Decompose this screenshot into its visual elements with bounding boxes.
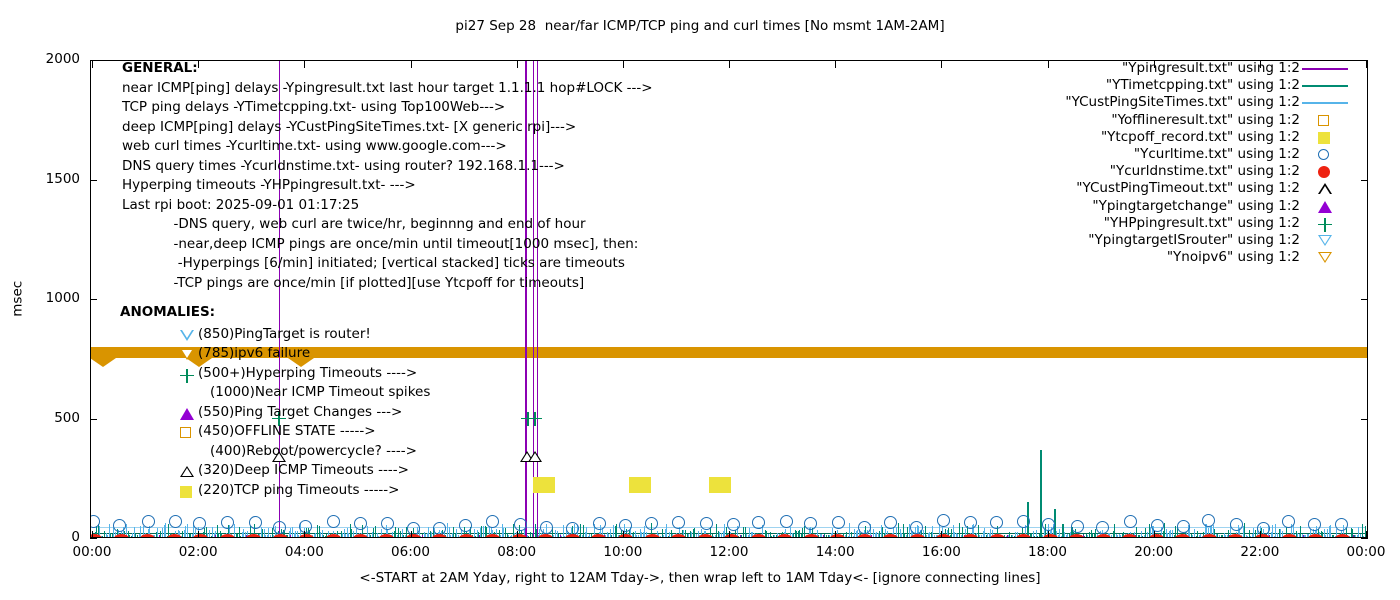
anomaly-label: (400)Reboot/powercycle? ----> [210,443,417,459]
x-tick-label: 06:00 [376,546,446,560]
legend-entry: "Ypingresult.txt" using 1:2 [1000,60,1300,77]
y-tick-mark [90,419,97,420]
x-tick-mark [411,531,412,538]
x-tick-label: 14:00 [800,546,870,560]
anomaly-label: (550)Ping Target Changes ---> [198,404,402,420]
legend-sample [1302,129,1350,146]
square-filled-icon [180,486,192,498]
triangle-down-orange-icon [1318,252,1332,263]
x-tick-label: 22:00 [1225,546,1295,560]
x-tick-label: 12:00 [694,546,764,560]
square-open-icon [180,427,191,438]
legend-sample [1302,77,1350,94]
anomaly-label: (1000)Near ICMP Timeout spikes [210,384,430,400]
anomaly-label: (320)Deep ICMP Timeouts ----> [198,462,409,478]
plus-icon [180,369,194,383]
x-tick-mark [941,531,942,538]
anomaly-row: (550)Ping Target Changes ---> [120,404,215,424]
general-annotation-block: GENERAL:near ICMP[ping] delays -Ypingres… [122,62,653,296]
legend-sample [1302,60,1350,77]
x-tick-mark [835,61,836,68]
x-axis-caption: <-START at 2AM Yday, right to 12AM Tday-… [0,572,1400,586]
triangle-down-open-icon [1318,235,1332,246]
x-tick-mark [623,531,624,538]
x-tick-mark [1366,61,1367,68]
triangle-open-icon [1318,183,1332,194]
legend-label: "Ytcpoff_record.txt" using 1:2 [1101,129,1300,145]
legend-line-swatch [1302,68,1348,70]
anomaly-row: (1000)Near ICMP Timeout spikes [120,384,215,404]
legend-entry: "YpingtargetISrouter" using 1:2 [1000,232,1300,249]
x-tick-mark [92,61,93,68]
x-tick-label: 04:00 [269,546,339,560]
legend-sample [1302,180,1350,197]
legend-sample [1302,198,1350,215]
legend-entry: "YHPpingresult.txt" using 1:2 [1000,215,1300,232]
x-tick-label: 18:00 [1013,546,1083,560]
anomalies-annotation-block: ANOMALIES:(850)PingTarget is router!(785… [120,306,215,501]
x-tick-label: 16:00 [906,546,976,560]
legend-entry: "Ycurltime.txt" using 1:2 [1000,146,1300,163]
legend-label: "Yofflineresult.txt" using 1:2 [1111,112,1300,128]
y-tick-mark [1361,419,1368,420]
anomalies-heading: ANOMALIES: [120,306,215,326]
legend-entry: "Ytcpoff_record.txt" using 1:2 [1000,129,1300,146]
anomaly-label: (500+)Hyperping Timeouts ----> [198,365,417,381]
legend-sample [1302,146,1350,163]
x-tick-mark [1260,531,1261,538]
y-tick-label: 1000 [34,292,80,306]
x-tick-mark [941,61,942,68]
legend-label: "Ypingresult.txt" using 1:2 [1122,60,1300,76]
anomaly-row: (850)PingTarget is router! [120,326,215,346]
legend-entry: "YCustPingTimeout.txt" using 1:2 [1000,180,1300,197]
x-tick-label: 00:00 [1331,546,1400,560]
anomaly-label: (220)TCP ping Timeouts -----> [198,482,400,498]
general-line: web curl times -Ycurltime.txt- using www… [122,140,653,160]
y-tick-mark [1361,180,1368,181]
circle-open-icon [1318,149,1329,160]
legend-label: "YCustPingSiteTimes.txt" using 1:2 [1065,94,1300,110]
legend-entry: "Ynoipv6" using 1:2 [1000,249,1300,266]
anomaly-row: (785)ipv6 failure [120,345,215,365]
triangle-down-open-icon [180,330,194,341]
circle-filled-icon [1318,166,1330,178]
y-tick-mark [90,299,97,300]
x-tick-mark [1366,531,1367,538]
x-tick-mark [1154,531,1155,538]
triangle-filled-icon [1318,201,1332,213]
general-line: -Hyperpings [6/min] initiated; [vertical… [122,257,653,277]
x-tick-label: 20:00 [1119,546,1189,560]
chart-title: pi27 Sep 28 near/far ICMP/TCP ping and c… [0,20,1400,34]
plus-icon [1318,218,1332,232]
anomaly-row: (500+)Hyperping Timeouts ----> [120,365,215,385]
legend-entry: "YTimetcpping.txt" using 1:2 [1000,77,1300,94]
triangle-open-icon [180,466,194,477]
x-tick-mark [517,531,518,538]
square-filled-icon [1318,132,1330,144]
y-tick-mark [90,538,97,539]
x-tick-mark [1048,531,1049,538]
legend-entry: "Ycurldnstime.txt" using 1:2 [1000,163,1300,180]
y-tick-label: 2000 [34,53,80,67]
y-tick-mark [1361,538,1368,539]
legend-label: "Ynoipv6" using 1:2 [1167,249,1300,265]
legend-label: "Ycurltime.txt" using 1:2 [1134,146,1300,162]
legend-line-swatch [1302,85,1348,87]
square-open-icon [1318,115,1329,126]
legend-label: "Ycurldnstime.txt" using 1:2 [1110,163,1300,179]
anomaly-row: (320)Deep ICMP Timeouts ----> [120,462,215,482]
legend-label: "YCustPingTimeout.txt" using 1:2 [1076,180,1300,196]
x-tick-label: 02:00 [163,546,233,560]
general-heading: GENERAL: [122,62,653,82]
x-tick-label: 10:00 [588,546,658,560]
general-line: TCP ping delays -YTimetcpping.txt- using… [122,101,653,121]
anomaly-label: (785)ipv6 failure [198,345,310,361]
legend-sample [1302,249,1350,266]
x-tick-mark [729,61,730,68]
x-tick-mark [835,531,836,538]
y-tick-label: 0 [34,531,80,545]
legend-line-swatch [1302,102,1348,104]
y-tick-label: 1500 [34,173,80,187]
legend-sample [1302,94,1350,111]
general-line: -TCP pings are once/min [if plotted][use… [122,277,653,297]
x-tick-mark [92,531,93,538]
legend-label: "YTimetcpping.txt" using 1:2 [1106,77,1300,93]
y-tick-label: 500 [34,412,80,426]
legend-entry: "Yofflineresult.txt" using 1:2 [1000,112,1300,129]
anomaly-label: (450)OFFLINE STATE -----> [198,423,376,439]
general-line: -DNS query, web curl are twice/hr, begin… [122,218,653,238]
y-tick-mark [90,180,97,181]
y-axis-label: msec [11,269,25,329]
x-tick-mark [729,531,730,538]
x-tick-label: 08:00 [482,546,552,560]
y-tick-mark [1361,299,1368,300]
anomaly-label: (850)PingTarget is router! [198,326,371,342]
chart-page: pi27 Sep 28 near/far ICMP/TCP ping and c… [0,0,1400,600]
legend-sample [1302,232,1350,249]
x-tick-mark [304,531,305,538]
legend-entry: "YCustPingSiteTimes.txt" using 1:2 [1000,94,1300,111]
legend-entry: "Ypingtargetchange" using 1:2 [1000,198,1300,215]
legend-label: "YpingtargetISrouter" using 1:2 [1088,232,1300,248]
triangle-down-orange-icon [180,349,194,360]
x-tick-mark [198,531,199,538]
legend-sample [1302,112,1350,129]
triangle-filled-icon [180,408,194,420]
legend-label: "YHPpingresult.txt" using 1:2 [1104,215,1300,231]
legend-sample [1302,215,1350,232]
general-line: Hyperping timeouts -YHPpingresult.txt- -… [122,179,653,199]
legend-label: "Ypingtargetchange" using 1:2 [1092,198,1300,214]
anomaly-row: (400)Reboot/powercycle? ----> [120,443,215,463]
anomaly-row: (220)TCP ping Timeouts -----> [120,482,215,502]
x-tick-label: 00:00 [57,546,127,560]
chart-legend: "Ypingresult.txt" using 1:2"YTimetcpping… [1000,60,1300,266]
anomaly-row: (450)OFFLINE STATE -----> [120,423,215,443]
legend-sample [1302,163,1350,180]
